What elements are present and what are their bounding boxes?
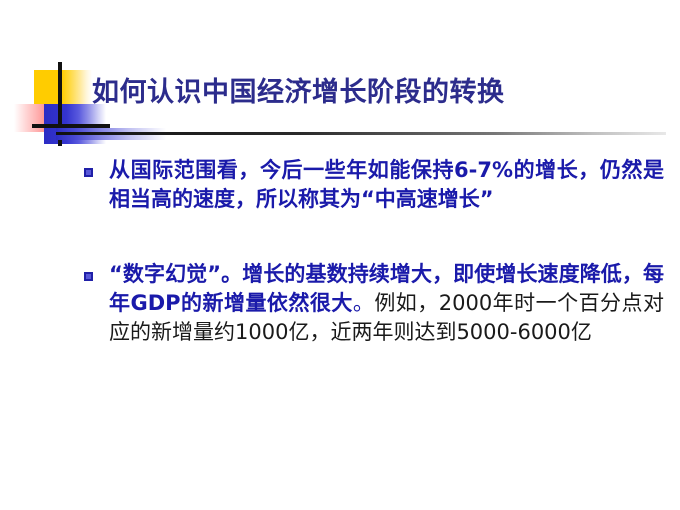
bullet-item: 从国际范围看，今后一些年如能保持6-7%的增长，仍然是相当高的速度，所以称其为“… <box>84 156 664 214</box>
slide-body: 从国际范围看，今后一些年如能保持6-7%的增长，仍然是相当高的速度，所以称其为“… <box>84 152 664 347</box>
bullet-text: 从国际范围看，今后一些年如能保持6-7%的增长，仍然是相当高的速度，所以称其为“… <box>109 156 664 214</box>
bullet-text: “数字幻觉”。增长的基数持续增大，即使增长速度降低，每年GDP的新增量依然很大。… <box>109 260 664 347</box>
slide-canvas: 如何认识中国经济增长阶段的转换 从国际范围看，今后一些年如能保持6-7%的增长，… <box>0 0 680 510</box>
slide-title: 如何认识中国经济增长阶段的转换 <box>92 76 652 110</box>
divider-line <box>56 132 666 135</box>
bullet-item: “数字幻觉”。增长的基数持续增大，即使增长速度降低，每年GDP的新增量依然很大。… <box>84 260 664 347</box>
square-bullet-icon <box>84 272 93 281</box>
square-bullet-icon <box>84 168 93 177</box>
bullet-separator: 。 <box>353 291 374 315</box>
bullet-emphasis-text: 从国际范围看，今后一些年如能保持6-7%的增长，仍然是相当高的速度，所以称其为“… <box>109 158 664 211</box>
title-divider <box>14 128 666 140</box>
